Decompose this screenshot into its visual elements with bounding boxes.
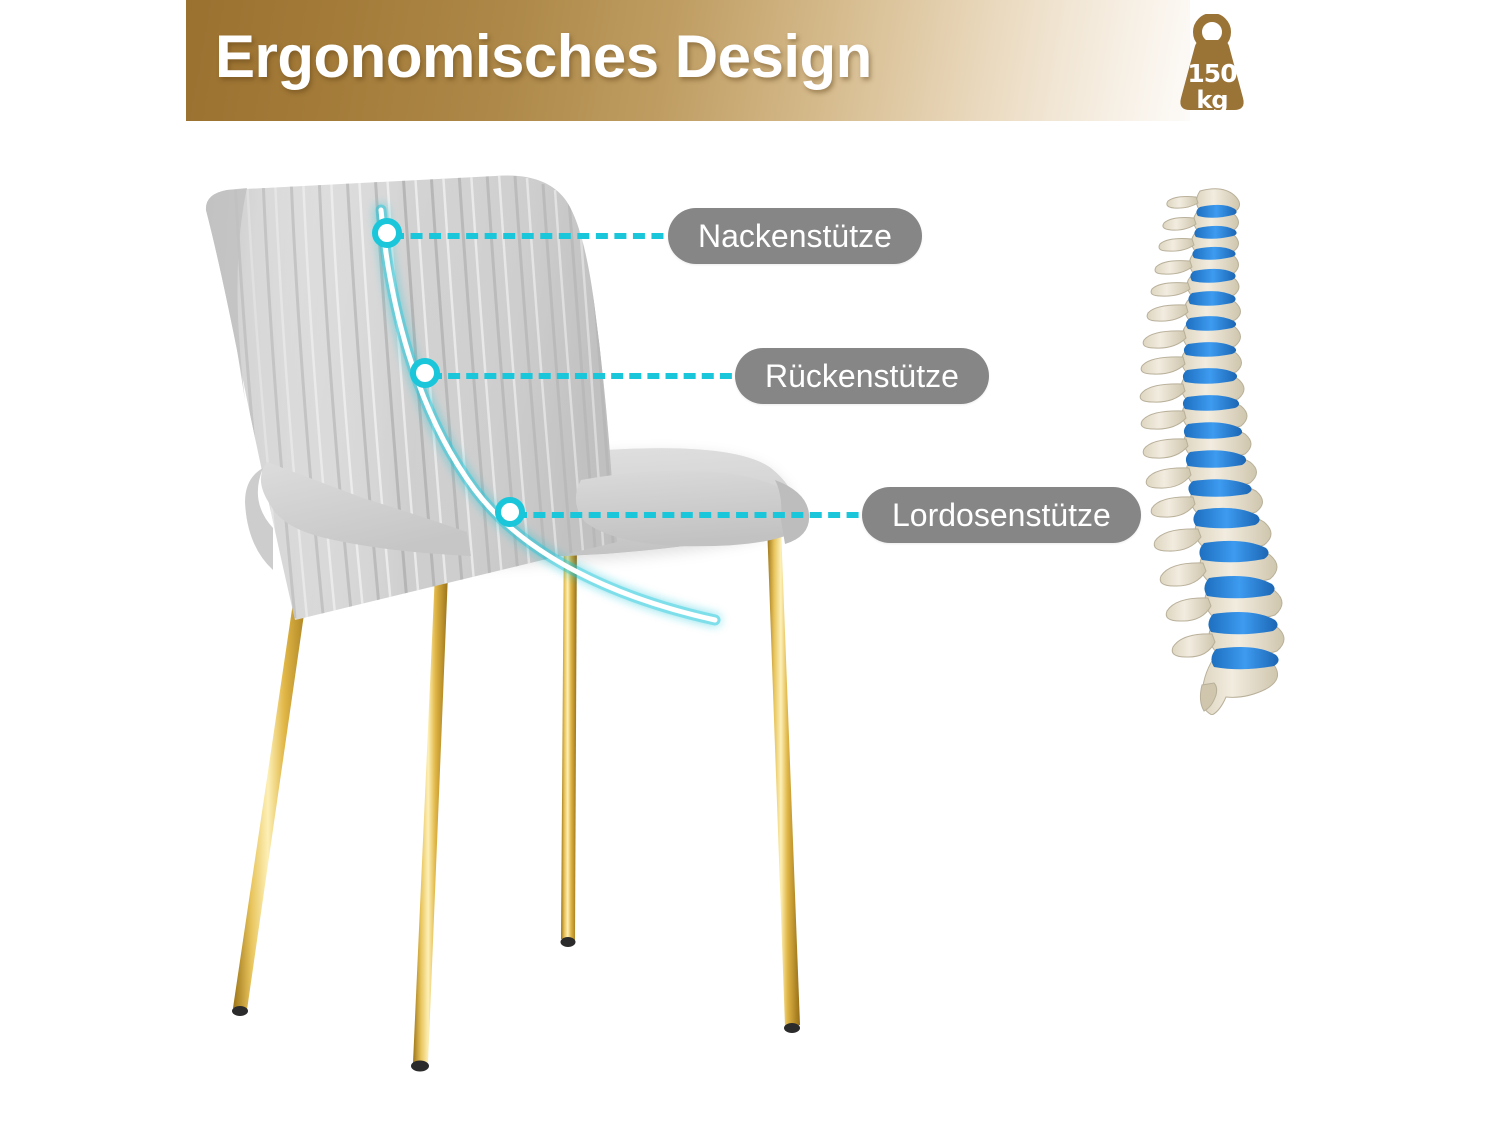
connector-line-neck — [392, 233, 682, 239]
weight-unit: kg — [1167, 88, 1257, 112]
curve-marker-back — [410, 358, 440, 388]
curve-marker-lumbar — [495, 497, 525, 527]
connector-line-back — [430, 373, 750, 379]
spine-illustration — [1128, 185, 1313, 715]
curve-marker-neck — [372, 218, 402, 248]
callout-label-back: Rückenstütze — [735, 348, 989, 404]
callout-label-lumbar: Lordosenstütze — [862, 487, 1141, 543]
page-title: Ergonomisches Design — [215, 22, 872, 91]
connector-line-lumbar — [515, 512, 877, 518]
infographic-canvas: Ergonomisches Design 150 kg — [0, 0, 1500, 1125]
chair-illustration — [175, 150, 875, 1100]
callout-label-neck: Nackenstütze — [668, 208, 922, 264]
weight-value: 150 — [1167, 61, 1257, 86]
weight-capacity-badge: 150 kg — [1167, 14, 1257, 114]
